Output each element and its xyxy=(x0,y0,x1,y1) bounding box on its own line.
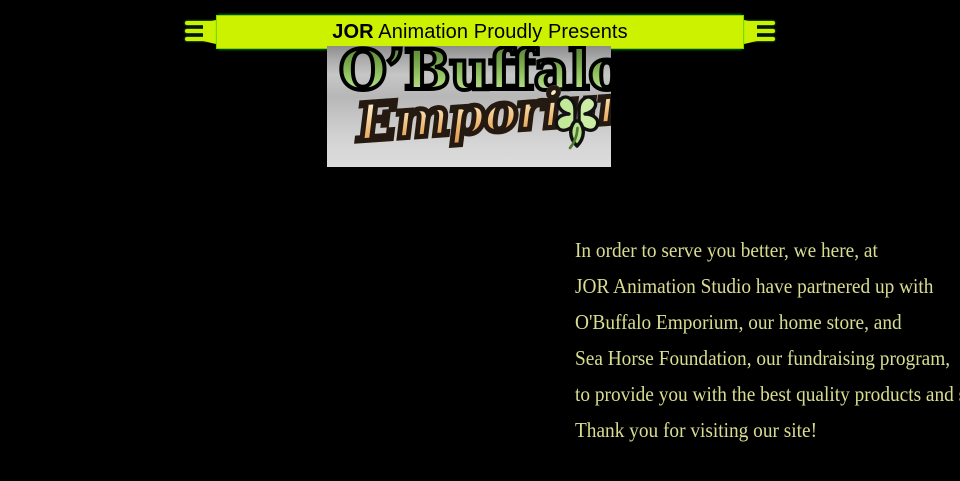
ribbon-banner: JOR Animation Proudly Presents xyxy=(193,16,767,48)
logo-inner: O’Buffalo Emporium xyxy=(327,46,611,167)
message-line: Thank you for visiting our site! xyxy=(575,412,917,448)
banner-headline: JOR Animation Proudly Presents xyxy=(217,16,743,48)
message-line: In order to serve you better, we here, a… xyxy=(575,232,917,268)
partnership-message: In order to serve you better, we here, a… xyxy=(575,232,947,448)
banner-brand-text: JOR xyxy=(332,21,373,43)
message-line: to provide you with the best quality pro… xyxy=(575,376,917,412)
logo-card[interactable]: O’Buffalo Emporium xyxy=(327,46,611,167)
banner-tagline-text: Animation Proudly Presents xyxy=(374,21,628,43)
message-line: JOR Animation Studio have partnered up w… xyxy=(575,268,917,304)
message-line: O'Buffalo Emporium, our home store, and xyxy=(575,304,917,340)
message-line: Sea Horse Foundation, our fundraising pr… xyxy=(575,340,917,376)
shamrock-icon xyxy=(549,90,607,152)
